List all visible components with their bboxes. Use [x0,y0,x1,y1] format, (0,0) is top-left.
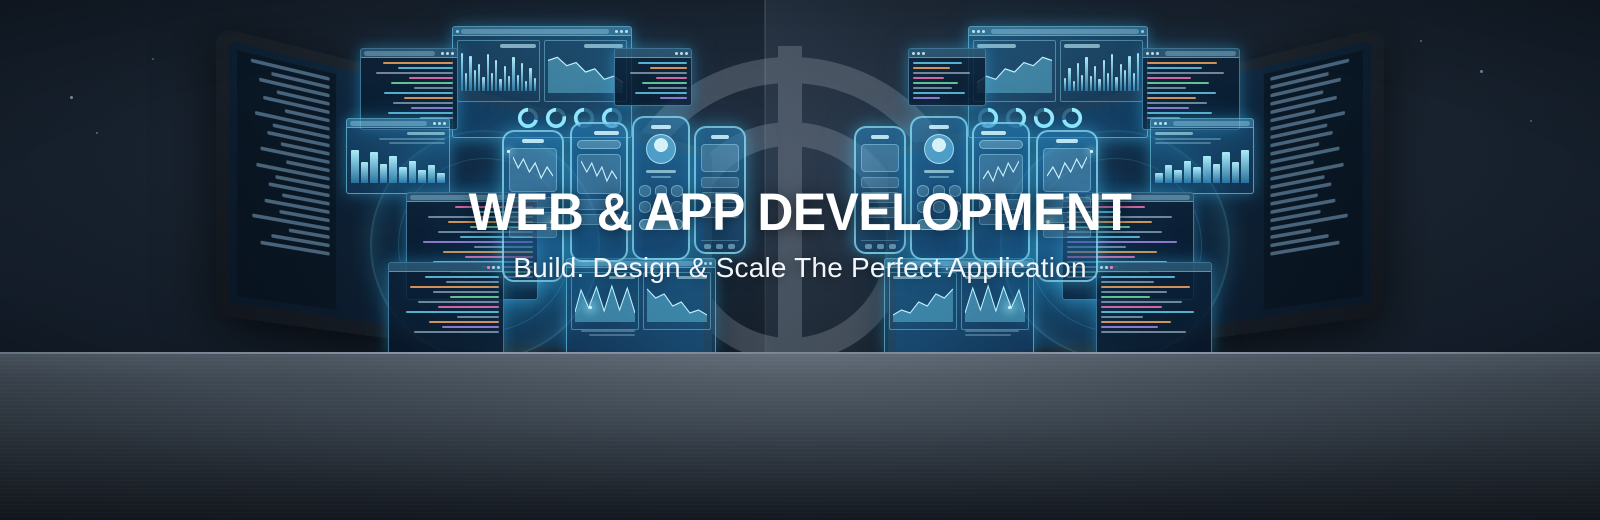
page-title: WEB & APP DEVELOPMENT [48,186,1552,240]
hero-copy: WEB & APP DEVELOPMENT Build. Design & Sc… [0,186,1600,284]
hero-banner: WEB & APP DEVELOPMENT Build. Design & Sc… [0,0,1600,520]
page-subtitle: Build. Design & Scale The Perfect Applic… [0,252,1600,284]
